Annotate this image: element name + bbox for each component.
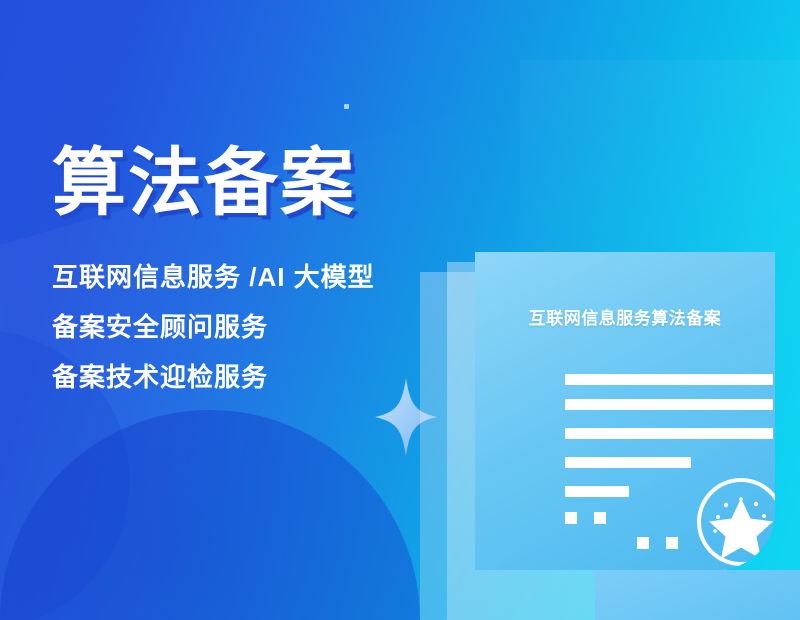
document-square-mark bbox=[637, 537, 649, 549]
document-card-stack: 互联网信息服务算法备案 bbox=[415, 248, 800, 620]
service-list: 互联网信息服务 /AI 大模型 备案安全顾问服务 备案技术迎检服务 bbox=[52, 252, 452, 402]
document-text-line bbox=[565, 374, 773, 385]
service-list-item-2: 备案安全顾问服务 bbox=[52, 302, 452, 352]
headline-block: 算法备案 互联网信息服务 /AI 大模型 备案安全顾问服务 备案技术迎检服务 bbox=[52, 140, 452, 402]
algorithm-filing-banner: 算法备案 互联网信息服务 /AI 大模型 备案安全顾问服务 备案技术迎检服务 互… bbox=[0, 0, 800, 620]
background-circle-primary bbox=[0, 410, 420, 620]
document-card-base-band bbox=[595, 570, 800, 620]
service-list-item-1: 互联网信息服务 /AI 大模型 bbox=[52, 252, 452, 302]
document-text-line bbox=[565, 428, 773, 439]
document-card-title: 互联网信息服务算法备案 bbox=[475, 304, 775, 329]
page-title: 算法备案 bbox=[52, 140, 452, 226]
star-seal-icon bbox=[693, 474, 775, 570]
document-text-line bbox=[565, 399, 773, 410]
document-square-mark bbox=[565, 512, 577, 524]
document-text-line bbox=[565, 486, 629, 497]
document-card-front: 互联网信息服务算法备案 bbox=[475, 252, 775, 570]
decorative-dot-icon bbox=[344, 104, 349, 109]
document-square-mark bbox=[666, 537, 678, 549]
service-list-item-3: 备案技术迎检服务 bbox=[52, 352, 452, 402]
document-text-line bbox=[565, 457, 691, 468]
document-square-mark bbox=[594, 512, 606, 524]
